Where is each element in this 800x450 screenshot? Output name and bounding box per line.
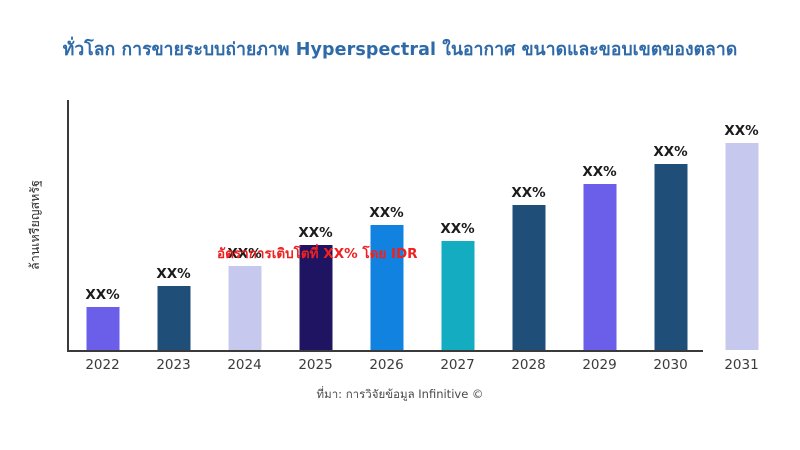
x-tick-label-2030: 2030 [653, 357, 687, 373]
chart-container: ทั่วโลก การขายระบบถ่ายภาพ Hyperspectral … [0, 0, 800, 450]
bar-value-label-2025: XX% [298, 225, 332, 241]
plot-area: XX%2022XX%2023XX%2024XX%2025XX%2026XX%20… [67, 100, 783, 351]
bar-group-2028: XX%2028 [493, 100, 564, 350]
y-axis-label: ล้านเหรียญสหรัฐ [22, 100, 48, 350]
bar-group-2030: XX%2030 [635, 100, 706, 350]
bar-group-2031: XX%2031 [706, 100, 777, 350]
x-tick-label-2029: 2029 [582, 357, 616, 373]
bar-group-2025: XX%2025 [280, 100, 351, 350]
bar-2029[interactable] [583, 184, 616, 350]
bar-2030[interactable] [654, 164, 687, 350]
source-note: ที่มา: การวิจัยข้อมูล Infinitive © [0, 386, 800, 404]
x-tick-label-2028: 2028 [511, 357, 545, 373]
x-axis-line [67, 350, 703, 352]
bar-value-label-2026: XX% [369, 205, 403, 221]
bar-2022[interactable] [86, 307, 119, 350]
x-tick-label-2027: 2027 [440, 357, 474, 373]
x-tick-label-2026: 2026 [369, 357, 403, 373]
bar-value-label-2029: XX% [582, 164, 616, 180]
x-tick-label-2031: 2031 [724, 357, 758, 373]
bar-2023[interactable] [157, 286, 190, 350]
bar-group-2024: XX%2024 [209, 100, 280, 350]
bar-2031[interactable] [725, 143, 758, 350]
bar-2027[interactable] [441, 241, 474, 350]
bar-group-2029: XX%2029 [564, 100, 635, 350]
bar-group-2027: XX%2027 [422, 100, 493, 350]
bar-value-label-2023: XX% [156, 266, 190, 282]
bar-value-label-2027: XX% [440, 221, 474, 237]
bar-group-2022: XX%2022 [67, 100, 138, 350]
x-tick-label-2025: 2025 [298, 357, 332, 373]
bar-2024[interactable] [228, 266, 261, 350]
chart-title: ทั่วโลก การขายระบบถ่ายภาพ Hyperspectral … [0, 40, 800, 62]
y-axis-label-text: ล้านเหรียญสหรัฐ [25, 180, 45, 270]
growth-rate-annotation: อัตราการเติบโตที่ XX% โดย IDR [217, 242, 418, 264]
bar-group-2023: XX%2023 [138, 100, 209, 350]
x-tick-label-2022: 2022 [85, 357, 119, 373]
x-tick-label-2024: 2024 [227, 357, 261, 373]
bar-value-label-2028: XX% [511, 185, 545, 201]
bar-2028[interactable] [512, 205, 545, 350]
bar-group-2026: XX%2026 [351, 100, 422, 350]
bar-value-label-2022: XX% [85, 287, 119, 303]
bar-value-label-2031: XX% [724, 123, 758, 139]
bar-value-label-2030: XX% [653, 144, 687, 160]
x-tick-label-2023: 2023 [156, 357, 190, 373]
